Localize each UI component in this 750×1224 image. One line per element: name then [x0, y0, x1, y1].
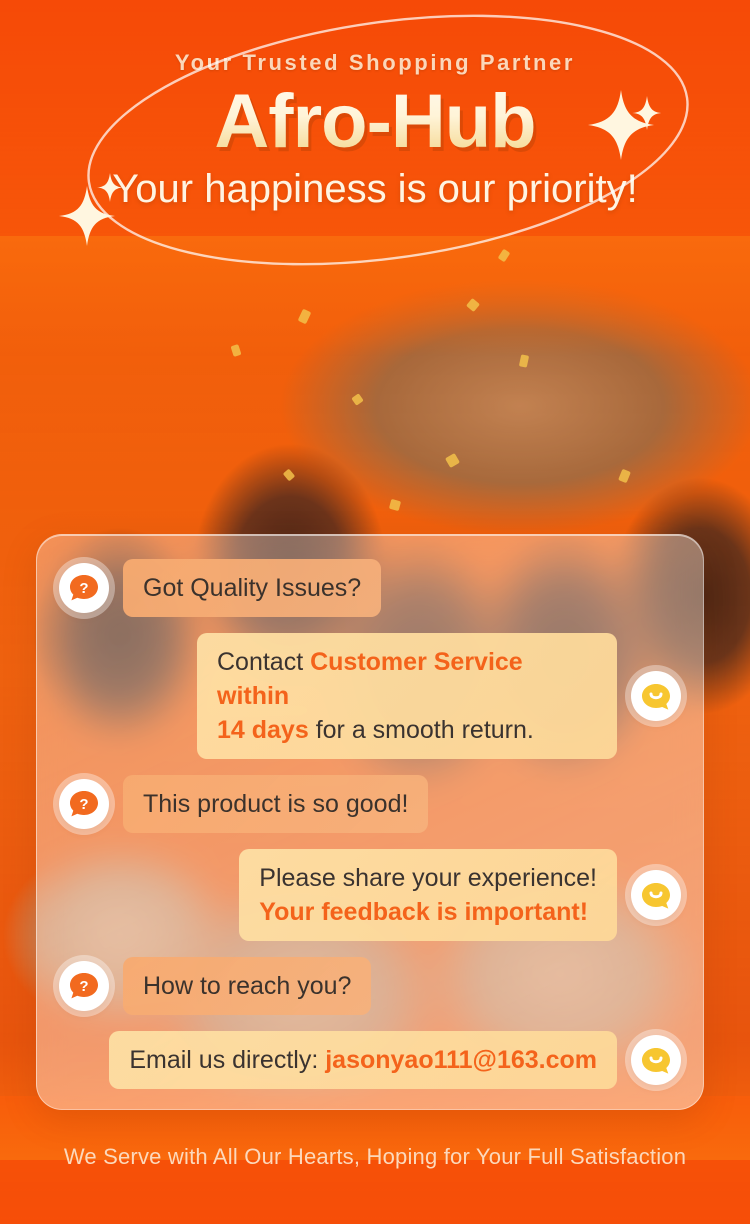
answer-highlight-days: 14 days [217, 716, 309, 744]
faq-card: ? Got Quality Issues? Contact Customer S… [36, 534, 704, 1110]
answer-text: Please share your experience! [259, 864, 597, 892]
conversation-row: ? Got Quality Issues? [59, 559, 681, 617]
answer-avatar [631, 671, 681, 721]
question-avatar: ? [59, 779, 109, 829]
svg-text:?: ? [79, 796, 88, 813]
question-speech-bubble-icon: ? [68, 970, 100, 1002]
answer-bubble: Contact Customer Service within 14 days … [197, 633, 617, 759]
question-speech-bubble-icon: ? [68, 788, 100, 820]
question-avatar: ? [59, 563, 109, 613]
page-kicker: Your Trusted Shopping Partner [0, 50, 750, 76]
smiley-speech-bubble-icon [640, 879, 672, 911]
smiley-speech-bubble-icon [640, 680, 672, 712]
conversation-row: Email us directly: jasonyao111@163.com [59, 1031, 681, 1089]
page-title: Afro-Hub [214, 82, 535, 163]
question-avatar: ? [59, 961, 109, 1011]
question-bubble: This product is so good! [123, 775, 428, 833]
answer-text-post: for a smooth return. [309, 716, 534, 744]
conversation-row: ? This product is so good! [59, 775, 681, 833]
question-speech-bubble-icon: ? [68, 572, 100, 604]
conversation-row: Please share your experience! Your feedb… [59, 849, 681, 941]
answer-avatar [631, 1035, 681, 1085]
smiley-speech-bubble-icon [640, 1044, 672, 1076]
answer-highlight: Your feedback is important! [259, 898, 588, 926]
conversation-row: ? How to reach you? [59, 957, 681, 1015]
footer-text: We Serve with All Our Hearts, Hoping for… [0, 1144, 750, 1170]
answer-bubble: Please share your experience! Your feedb… [239, 849, 617, 941]
question-bubble: Got Quality Issues? [123, 559, 381, 617]
header: Your Trusted Shopping Partner Afro-Hub Y… [0, 0, 750, 270]
contact-email[interactable]: jasonyao111@163.com [325, 1046, 597, 1074]
svg-text:?: ? [79, 978, 88, 995]
answer-bubble: Email us directly: jasonyao111@163.com [109, 1031, 617, 1089]
page-tagline: Your happiness is our priority! [0, 165, 750, 213]
svg-text:?: ? [79, 580, 88, 597]
answer-text-pre: Contact [217, 648, 310, 676]
conversation-row: Contact Customer Service within 14 days … [59, 633, 681, 759]
answer-text-pre: Email us directly: [129, 1046, 325, 1074]
answer-avatar [631, 870, 681, 920]
question-bubble: How to reach you? [123, 957, 371, 1015]
